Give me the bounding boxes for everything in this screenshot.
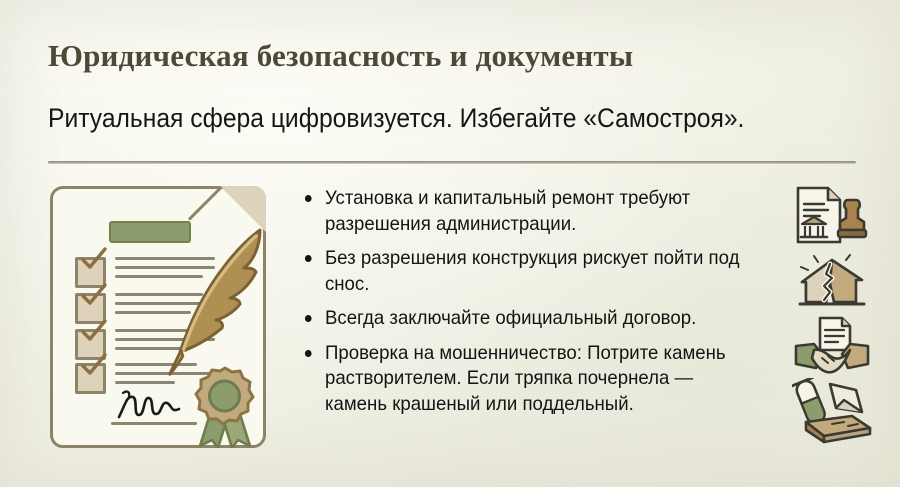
bullet-dot-icon [305, 350, 312, 357]
list-item: Всегда заключайте официальный договор. [303, 306, 752, 332]
slide-canvas: Юридическая безопасность и документы Рит… [0, 0, 900, 487]
solvent-test-stone-icon [792, 378, 872, 448]
demolished-house-icon [796, 254, 868, 316]
icon-column [786, 182, 890, 464]
quill-pen-icon [164, 224, 274, 384]
list-item: Без разрешения конструкция рискует пойти… [303, 246, 752, 297]
page-subtitle: Ритуальная сфера цифровизуется. Избегайт… [48, 103, 744, 134]
bullet-dot-icon [305, 255, 312, 262]
header-divider [48, 161, 856, 164]
list-item-text: Без разрешения конструкция рискует пойти… [325, 247, 739, 295]
checklist-document-illustration [44, 180, 294, 462]
check-mark-icon [79, 247, 109, 269]
handshake-contract-icon [794, 316, 870, 376]
page-title: Юридическая безопасность и документы [48, 38, 633, 74]
signature-icon [117, 387, 189, 421]
bullet-dot-icon [305, 195, 312, 202]
check-mark-icon [79, 319, 109, 341]
page-fold-edge-icon [188, 186, 223, 221]
list-item-text: Установка и капитальный ремонт требуют р… [325, 187, 690, 235]
bullet-list: Установка и капитальный ремонт требуют р… [303, 186, 773, 426]
list-item-text: Всегда заключайте официальный договор. [325, 307, 696, 329]
wax-seal-icon [188, 366, 262, 448]
list-item: Установка и капитальный ремонт требуют р… [303, 186, 752, 237]
signature-underline [111, 422, 197, 425]
bullet-dot-icon [305, 315, 312, 322]
list-item-text: Проверка на мошенничество: Потрите камен… [325, 342, 726, 415]
list-item: Проверка на мошенничество: Потрите камен… [303, 341, 752, 418]
check-mark-icon [79, 353, 109, 375]
check-mark-icon [79, 283, 109, 305]
permit-document-stamp-icon [794, 184, 868, 250]
